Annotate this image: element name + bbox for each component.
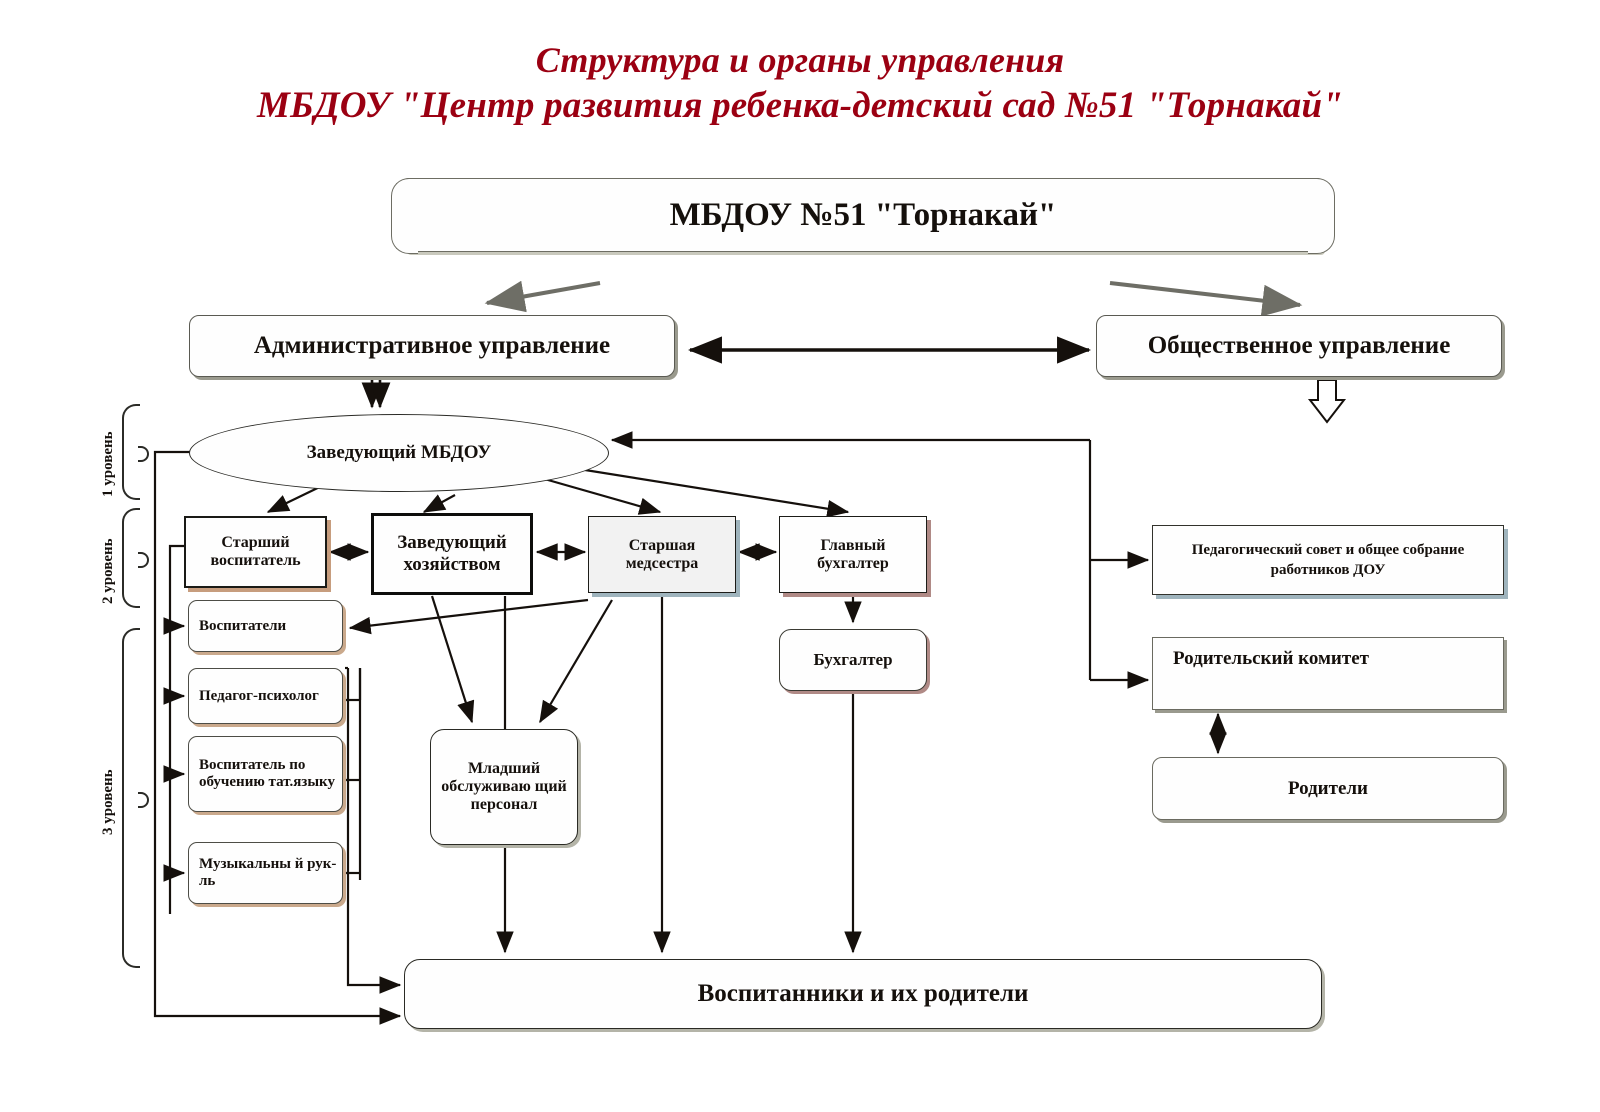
node-parent-committee[interactable]: Родительский комитет bbox=[1152, 637, 1504, 710]
node-chief-accountant-label: Главный бухгалтер bbox=[780, 537, 926, 573]
node-root[interactable]: МБДОУ №51 "Торнакай" bbox=[404, 178, 1322, 252]
node-tatar-teacher-label: Воспитатель по обучению тат.языку bbox=[199, 757, 342, 791]
node-pupils-and-parents-label: Воспитанники и их родители bbox=[405, 980, 1321, 1008]
node-music-director[interactable]: Музыкальны й рук-ль bbox=[188, 842, 343, 904]
node-accountant-label: Бухгалтер bbox=[780, 650, 926, 670]
node-head-nurse[interactable]: Старшая медсестра bbox=[588, 516, 736, 593]
node-chief-accountant[interactable]: Главный бухгалтер bbox=[779, 516, 927, 593]
node-root-label: МБДОУ №51 "Торнакай" bbox=[405, 197, 1321, 234]
node-head-label: Заведующий МБДОУ bbox=[190, 442, 608, 464]
node-parents-label: Родители bbox=[1153, 778, 1503, 800]
node-junior-staff-label: Младший обслуживаю щий персонал bbox=[431, 760, 577, 814]
node-music-director-label: Музыкальны й рук-ль bbox=[199, 856, 342, 890]
node-parent-committee-label: Родительский комитет bbox=[1173, 648, 1503, 670]
node-public-management[interactable]: Общественное управление bbox=[1096, 315, 1502, 377]
node-junior-staff[interactable]: Младший обслуживаю щий персонал bbox=[430, 729, 578, 845]
node-admin-management[interactable]: Административное управление bbox=[189, 315, 675, 377]
node-pupils-and-parents[interactable]: Воспитанники и их родители bbox=[404, 959, 1322, 1029]
node-senior-educator-label: Старший воспитатель bbox=[186, 534, 325, 570]
node-pedagogical-council-label: Педагогический совет и общее собрание ра… bbox=[1153, 540, 1503, 581]
node-psychologist[interactable]: Педагог-психолог bbox=[188, 668, 343, 724]
node-senior-educator[interactable]: Старший воспитатель bbox=[184, 516, 327, 588]
node-head[interactable]: Заведующий МБДОУ bbox=[189, 414, 609, 492]
node-admin-management-label: Административное управление bbox=[190, 332, 674, 360]
diagram-canvas: Структура и органы управления МБДОУ "Цен… bbox=[0, 0, 1600, 1112]
level-brace-3 bbox=[122, 628, 140, 968]
node-educators[interactable]: Воспитатели bbox=[188, 600, 343, 652]
level-brace-2 bbox=[122, 508, 140, 608]
level-label-3: 3 уровень bbox=[100, 769, 117, 835]
node-economy-manager-label: Заведующий хозяйством bbox=[374, 532, 530, 576]
level-label-1: 1 уровень bbox=[100, 431, 117, 497]
level-brace-1 bbox=[122, 404, 140, 500]
node-tatar-teacher[interactable]: Воспитатель по обучению тат.языку bbox=[188, 736, 343, 812]
node-head-nurse-label: Старшая медсестра bbox=[589, 537, 735, 573]
node-accountant[interactable]: Бухгалтер bbox=[779, 629, 927, 691]
node-educators-label: Воспитатели bbox=[199, 618, 342, 635]
node-public-management-label: Общественное управление bbox=[1097, 332, 1501, 360]
node-economy-manager[interactable]: Заведующий хозяйством bbox=[371, 513, 533, 595]
node-pedagogical-council[interactable]: Педагогический совет и общее собрание ра… bbox=[1152, 525, 1504, 595]
level-label-2: 2 уровень bbox=[100, 538, 117, 604]
node-parents[interactable]: Родители bbox=[1152, 757, 1504, 820]
node-psychologist-label: Педагог-психолог bbox=[199, 688, 342, 705]
